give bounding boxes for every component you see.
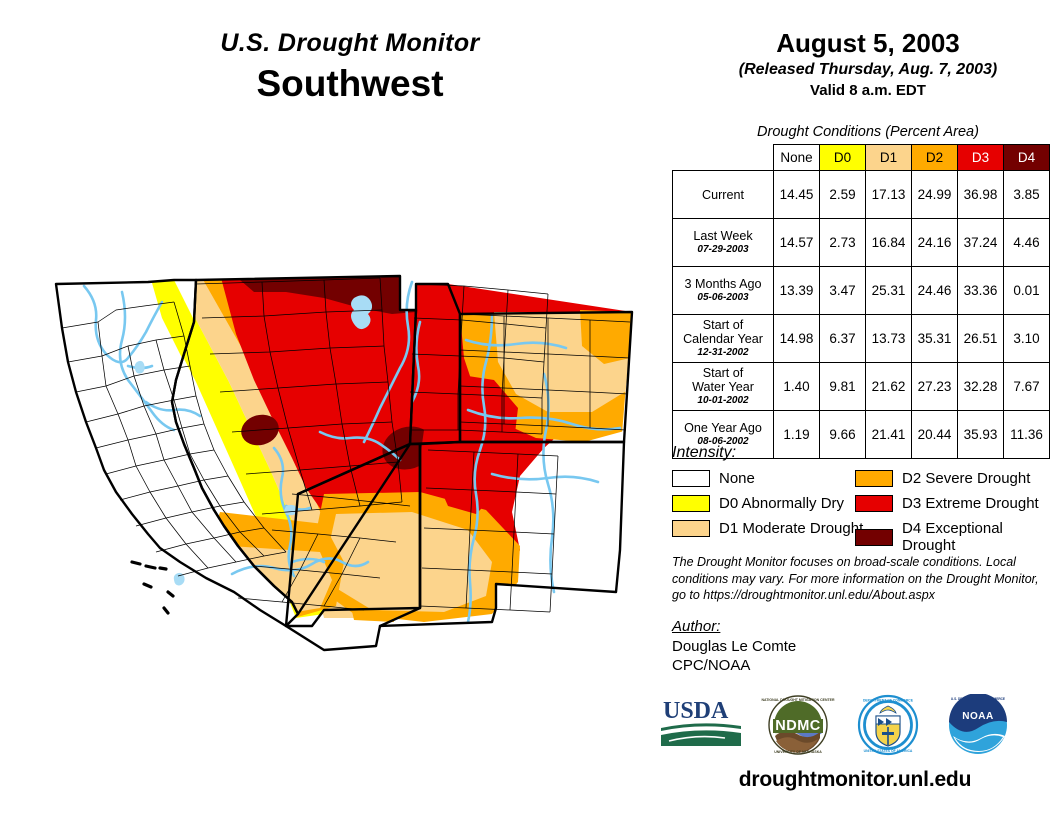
ndmc-logo: NDMC NATIONAL DROUGHT MITIGATION CENTER …	[761, 696, 835, 754]
table-caption: Drought Conditions (Percent Area)	[680, 124, 1056, 140]
intensity-legend-title: Intensity:	[672, 444, 736, 462]
table-cell: 17.13	[866, 171, 912, 219]
legend-item-d0[interactable]: D0 Abnormally Dry	[672, 495, 844, 512]
map-svg[interactable]	[24, 262, 664, 662]
table-cell: 13.39	[774, 267, 820, 315]
table-header: NoneD0D1D2D3D4	[673, 145, 1050, 171]
row-label-text: Start ofCalendar Year	[683, 318, 763, 346]
row-label: Current	[673, 171, 774, 219]
row-label: 3 Months Ago05-06-2003	[673, 267, 774, 315]
legend-label: D3 Extreme Drought	[902, 495, 1039, 512]
table-body: Current14.452.5917.1324.9936.983.85Last …	[673, 171, 1050, 459]
program-title: U.S. Drought Monitor	[150, 28, 550, 58]
table-col-header-d3: D3	[958, 145, 1004, 171]
legend-swatch-d1	[672, 520, 710, 537]
table-cell: 9.81	[820, 363, 866, 411]
row-label: Start ofCalendar Year12-31-2002	[673, 315, 774, 363]
noaa-logo: NOAA U.S. DEPARTMENT OF COMMERCE	[949, 694, 1007, 754]
row-label: Start ofWater Year10-01-2002	[673, 363, 774, 411]
table-cell: 1.19	[774, 411, 820, 459]
author-info: Douglas Le Comte CPC/NOAA	[672, 637, 796, 675]
table-cell: 32.28	[958, 363, 1004, 411]
logos-svg: USDA NDMC NATIONAL DROUGHT MITIGATION CE…	[655, 694, 1055, 756]
table-cell: 4.46	[1004, 219, 1050, 267]
legend-label: D4 Exceptional Drought	[902, 520, 1056, 554]
table-col-header-d2: D2	[912, 145, 958, 171]
row-label: Last Week07-29-2003	[673, 219, 774, 267]
table-cell: 27.23	[912, 363, 958, 411]
table-cell: 21.62	[866, 363, 912, 411]
table-cell: 24.99	[912, 171, 958, 219]
table-col-header-none: None	[774, 145, 820, 171]
great-salt-lake	[351, 295, 372, 329]
table-cell: 37.24	[958, 219, 1004, 267]
table-cell: 33.36	[958, 267, 1004, 315]
map-date: August 5, 2003	[680, 28, 1056, 59]
legend-item-d3[interactable]: D3 Extreme Drought	[855, 495, 1039, 512]
table-row: 3 Months Ago05-06-200313.393.4725.3124.4…	[673, 267, 1050, 315]
channel-islands	[132, 562, 173, 613]
date-block: August 5, 2003 (Released Thursday, Aug. …	[680, 28, 1056, 101]
table-row: Start ofWater Year10-01-20021.409.8121.6…	[673, 363, 1050, 411]
drought-conditions-table: NoneD0D1D2D3D4 Current14.452.5917.1324.9…	[672, 144, 1050, 459]
table-cell: 24.46	[912, 267, 958, 315]
legend-label: None	[719, 470, 755, 487]
table-col-header-d1: D1	[866, 145, 912, 171]
table-row: Start ofCalendar Year12-31-200214.986.37…	[673, 315, 1050, 363]
table-cell: 0.01	[1004, 267, 1050, 315]
table-col-header-d4: D4	[1004, 145, 1050, 171]
table-cell: 20.44	[912, 411, 958, 459]
row-label-text: Current	[702, 188, 744, 202]
table-cell: 6.37	[820, 315, 866, 363]
map-title-block: U.S. Drought Monitor Southwest	[150, 28, 550, 107]
table-cell: 24.16	[912, 219, 958, 267]
legend-swatch-none	[672, 470, 710, 487]
author-label: Author:	[672, 618, 720, 635]
legend-label: D2 Severe Drought	[902, 470, 1030, 487]
table-corner-cell	[673, 145, 774, 171]
legend-swatch-d0	[672, 495, 710, 512]
table-cell: 11.36	[1004, 411, 1050, 459]
legend-item-d4[interactable]: D4 Exceptional Drought	[855, 520, 1056, 554]
table-header-row: NoneD0D1D2D3D4	[673, 145, 1050, 171]
row-label-date: 07-29-2003	[675, 244, 771, 256]
row-label-text: 3 Months Ago	[684, 277, 761, 291]
table-cell: 14.57	[774, 219, 820, 267]
table-cell: 36.98	[958, 171, 1004, 219]
table-cell: 35.31	[912, 315, 958, 363]
disclaimer-text: The Drought Monitor focuses on broad-sca…	[672, 554, 1052, 604]
table-cell: 14.98	[774, 315, 820, 363]
legend-label: D1 Moderate Drought	[719, 520, 863, 537]
legend-swatch-d3	[855, 495, 893, 512]
table-col-header-d0: D0	[820, 145, 866, 171]
table-cell: 26.51	[958, 315, 1004, 363]
svg-text:NOAA: NOAA	[962, 711, 993, 722]
table-cell: 2.73	[820, 219, 866, 267]
region-title: Southwest	[150, 60, 550, 107]
table-cell: 1.40	[774, 363, 820, 411]
table-cell: 16.84	[866, 219, 912, 267]
table-cell: 3.10	[1004, 315, 1050, 363]
table-cell: 3.47	[820, 267, 866, 315]
table-cell: 3.85	[1004, 171, 1050, 219]
table-cell: 7.67	[1004, 363, 1050, 411]
legend-item-none[interactable]: None	[672, 470, 755, 487]
website-url: droughtmonitor.unl.edu	[655, 768, 1055, 792]
table-cell: 9.66	[820, 411, 866, 459]
legend-item-d1[interactable]: D1 Moderate Drought	[672, 520, 863, 537]
agency-logos: USDA NDMC NATIONAL DROUGHT MITIGATION CE…	[655, 694, 1055, 756]
lake-tahoe	[135, 361, 145, 374]
row-label-date: 12-31-2002	[675, 347, 771, 359]
table-cell: 21.41	[866, 411, 912, 459]
svg-text:NATIONAL DROUGHT MITIGATION CE: NATIONAL DROUGHT MITIGATION CENTER	[761, 698, 835, 702]
table-row: Last Week07-29-200314.572.7316.8424.1637…	[673, 219, 1050, 267]
row-label-date: 05-06-2003	[675, 292, 771, 304]
usda-logo: USDA	[661, 698, 741, 746]
table-cell: 13.73	[866, 315, 912, 363]
legend-item-d2[interactable]: D2 Severe Drought	[855, 470, 1030, 487]
release-date: (Released Thursday, Aug. 7, 2003)	[680, 59, 1056, 80]
table-row: Current14.452.5917.1324.9936.983.85	[673, 171, 1050, 219]
svg-text:UNITED STATES OF AMERICA: UNITED STATES OF AMERICA	[864, 749, 913, 753]
table-cell: 14.45	[774, 171, 820, 219]
row-label-text: Last Week	[693, 229, 752, 243]
svg-text:DEPARTMENT OF COMMERCE: DEPARTMENT OF COMMERCE	[863, 699, 914, 703]
svg-text:UNIVERSITY OF NEBRASKA: UNIVERSITY OF NEBRASKA	[774, 750, 822, 754]
legend-swatch-d2	[855, 470, 893, 487]
southwest-drought-map[interactable]	[24, 262, 664, 662]
table-cell: 25.31	[866, 267, 912, 315]
table-cell: 2.59	[820, 171, 866, 219]
svg-text:NDMC: NDMC	[775, 718, 821, 734]
table-cell: 35.93	[958, 411, 1004, 459]
row-label-text: Start ofWater Year	[692, 366, 754, 394]
legend-label: D0 Abnormally Dry	[719, 495, 844, 512]
valid-time: Valid 8 a.m. EDT	[680, 81, 1056, 101]
author-name-text: Douglas Le Comte	[672, 637, 796, 656]
usdc-seal-logo: DEPARTMENT OF COMMERCE UNITED STATES OF …	[859, 696, 917, 754]
svg-text:U.S. DEPARTMENT OF COMMERCE: U.S. DEPARTMENT OF COMMERCE	[951, 697, 1005, 701]
row-label-text: One Year Ago	[684, 421, 762, 435]
svg-text:USDA: USDA	[663, 698, 729, 724]
author-affiliation-text: CPC/NOAA	[672, 656, 796, 675]
row-label-date: 10-01-2002	[675, 395, 771, 407]
legend-swatch-d4	[855, 529, 893, 546]
